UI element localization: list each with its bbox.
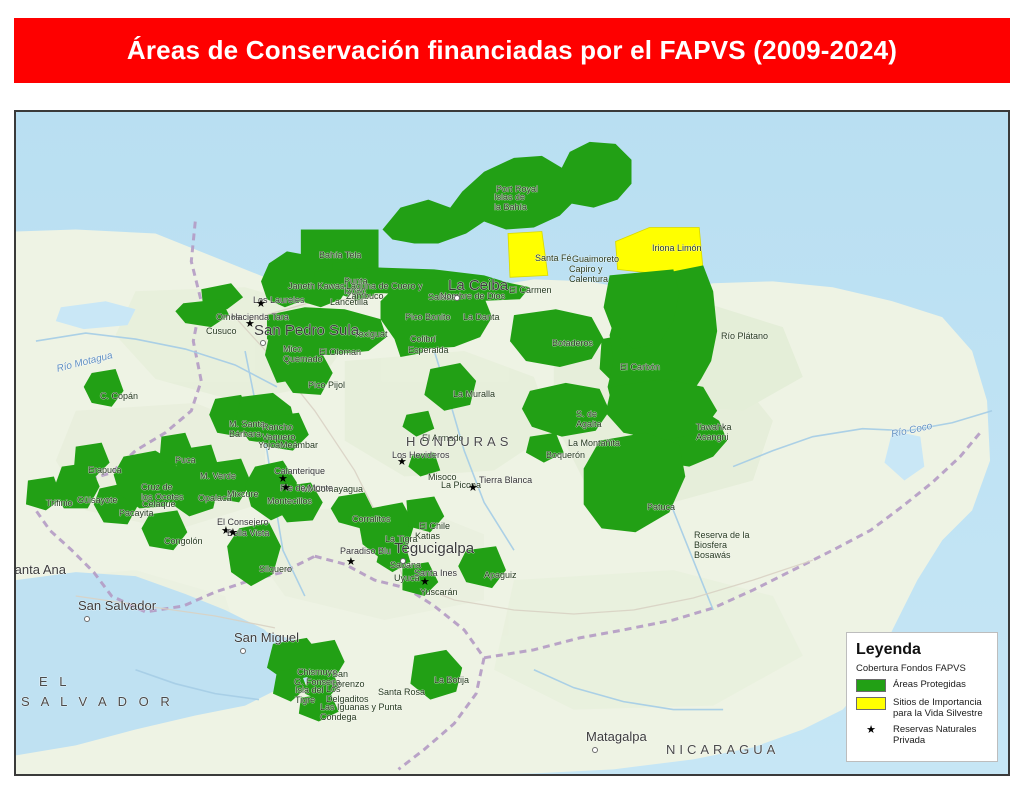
pa-label-69: Las Iguanas y PuntaCondega <box>320 702 402 722</box>
pa-label-16: Colibrí <box>410 334 436 344</box>
pa-label-20: Omoa <box>216 312 241 322</box>
pa-label-1: Islas dela Bahía <box>494 192 527 212</box>
page-title: Áreas de Conservación financiadas por el… <box>127 35 897 66</box>
city-dot-icon <box>240 648 246 654</box>
pa-label-33: La Muralla <box>453 389 495 399</box>
pa-label-55: Corralitos <box>352 514 391 524</box>
pa-label-25: El Carbón <box>620 362 660 372</box>
river-label-0: Río Motagua <box>56 350 114 375</box>
pa-label-11: Iriona Limón <box>652 243 702 253</box>
city-label-6: Matagalpa <box>586 729 647 744</box>
pa-label-51: Yojoa <box>258 440 280 450</box>
pa-label-46: Opalaca <box>198 493 232 503</box>
pa-label-49: M. SantaBárbara <box>229 419 265 439</box>
city-label-0: San Pedro Sula <box>254 322 359 339</box>
legend-label-reservas-privadas: Reservas Naturales Privada <box>893 724 988 746</box>
pa-label-57: Katias <box>415 531 440 541</box>
yellow-swatch-icon <box>856 697 886 710</box>
pa-label-45: M. Verde <box>200 471 236 481</box>
pa-label-6: Laguna de Cuero yZambuco <box>346 281 423 301</box>
star-marker-icon: ★ <box>256 300 266 309</box>
city-dot-icon <box>454 295 460 301</box>
pa-label-38: Erapuca <box>88 465 122 475</box>
legend-label-sitios-importancia: Sitios de Importancia para la Vida Silve… <box>893 697 988 719</box>
city-dot-icon <box>84 616 90 622</box>
pa-label-18: Botaderos <box>552 338 593 348</box>
city-label-3: San Salvador <box>78 598 156 613</box>
pa-label-2: Bahía Tela <box>319 250 361 260</box>
star-marker-icon: ★ <box>245 320 255 329</box>
private-reserve-label-1: Hacienda Tara <box>231 312 289 322</box>
pa-label-54: M. Comayagua <box>302 484 363 494</box>
legend-panel: Leyenda Cobertura Fondos FAPVS Áreas Pro… <box>846 632 998 762</box>
pa-label-39: Trifinio <box>46 498 73 508</box>
pa-label-5: Lancetilla <box>330 297 368 307</box>
pa-label-24: Pico Pijol <box>308 380 345 390</box>
pa-label-3: Janeth Kawas <box>288 281 345 291</box>
pa-label-35: Misoco <box>428 472 457 482</box>
pa-label-64: Chismuyo <box>297 667 337 677</box>
pa-label-28: La Montañita <box>568 438 620 448</box>
pa-label-30: TawahkaAsangni <box>696 422 732 442</box>
pa-label-9: Guaimoreto <box>572 254 619 264</box>
pa-label-40: Güisayote <box>77 495 118 505</box>
title-banner: Áreas de Conservación financiadas por el… <box>14 18 1010 83</box>
pa-label-58: La Tigra <box>385 534 418 544</box>
city-label-5: Santa Ana <box>14 562 66 577</box>
legend-title: Leyenda <box>856 641 988 659</box>
pa-label-67: SanLorenzo <box>332 669 365 689</box>
map-frame[interactable]: Port RoyalIslas dela BahíaBahía TelaJane… <box>14 110 1010 776</box>
pa-label-21: Cusuco <box>206 326 237 336</box>
pa-label-22: El Oloman <box>319 347 361 357</box>
star-marker-icon: ★ <box>856 724 886 737</box>
city-label-4: San Miguel <box>234 630 299 645</box>
pa-label-23: MicoQuemado <box>283 344 323 364</box>
star-marker-icon: ★ <box>281 484 291 493</box>
pa-label-71: Santa Rosa <box>378 687 425 697</box>
pa-label-34: El Armado <box>422 433 464 443</box>
pa-label-61: Yuscarán <box>420 587 458 597</box>
city-label-1: La Ceiba <box>448 277 508 294</box>
star-marker-icon: ★ <box>346 558 356 567</box>
pa-label-56: El Chile <box>419 521 450 531</box>
legend-item-reservas-privadas: ★ Reservas Naturales Privada <box>856 724 988 746</box>
city-dot-icon <box>260 340 266 346</box>
pa-label-19: Texiguat <box>354 329 388 339</box>
star-marker-icon: ★ <box>228 529 238 538</box>
legend-label-areas-protegidas: Áreas Protegidas <box>893 679 966 690</box>
pa-label-50: RanchoVaquero <box>262 422 295 442</box>
green-swatch-icon <box>856 679 886 692</box>
country-label-0: HONDURAS <box>406 434 512 449</box>
pa-label-65: G. Fonseca <box>294 677 341 687</box>
pa-label-10: Capiro yCalentura <box>569 264 608 284</box>
pa-label-68: LosDelgaditos <box>326 684 369 704</box>
pa-label-26: Río Plátano <box>721 331 768 341</box>
pa-label-14: Pico Bonito <box>405 312 451 322</box>
pa-label-7: Salada <box>428 292 456 302</box>
pa-label-48: Congolón <box>164 536 203 546</box>
legend-item-areas-protegidas: Áreas Protegidas <box>856 679 988 692</box>
country-label-3: S A L V A D O R <box>21 694 174 709</box>
pa-label-31: Patuca <box>647 502 675 512</box>
star-marker-icon: ★ <box>397 458 407 467</box>
private-reserve-label-3: Tierra Blanca <box>479 475 532 485</box>
pa-label-4: PuntaIzopo <box>344 276 368 296</box>
pa-label-44: Puca <box>175 455 196 465</box>
pa-label-66: Isla delTigre <box>295 685 324 705</box>
city-dot-icon <box>400 558 406 564</box>
pa-label-15: La Danta <box>463 312 500 322</box>
private-reserve-label-8: Paradiso Blu <box>340 546 391 556</box>
star-marker-icon: ★ <box>468 484 478 493</box>
pa-label-52: Meámbar <box>280 440 318 450</box>
country-label-2: E L <box>39 674 71 689</box>
legend-subtitle: Cobertura Fondos FAPVS <box>856 663 988 674</box>
pa-label-42: Cruz delos Ocotes <box>141 482 184 502</box>
pa-label-43: Celaque <box>142 499 176 509</box>
legend-item-sitios-importancia: Sitios de Importancia para la Vida Silve… <box>856 697 988 719</box>
pa-label-32: Reserva de laBiosferaBosawás <box>694 530 750 560</box>
pa-label-41: Pacayita <box>119 508 154 518</box>
pa-label-27: S. deAgalta <box>576 409 602 429</box>
pa-label-13: El Carmen <box>509 285 552 295</box>
city-dot-icon <box>592 747 598 753</box>
pa-label-17: Esperalda <box>408 345 449 355</box>
pa-label-47: Mixcure <box>227 489 259 499</box>
pa-label-12: Nombre de Dios <box>440 291 505 301</box>
pa-label-0: Port Royal <box>496 184 538 194</box>
river-label-1: Río Coco <box>890 421 933 440</box>
pa-label-62: Apaguiz <box>484 570 517 580</box>
pa-label-70: La Botija <box>434 675 469 685</box>
pa-label-53: Montecillos <box>267 496 312 506</box>
pa-label-63: Silquero <box>259 564 292 574</box>
pa-label-60: Uyuca <box>394 573 420 583</box>
pa-label-8: Santa Fé <box>535 253 572 263</box>
pa-label-37: C. Copán <box>100 391 138 401</box>
star-marker-icon: ★ <box>420 578 430 587</box>
pa-label-29: Boquerón <box>546 450 585 460</box>
country-label-1: NICARAGUA <box>666 742 779 757</box>
city-label-2: Tegucigalpa <box>394 540 474 557</box>
